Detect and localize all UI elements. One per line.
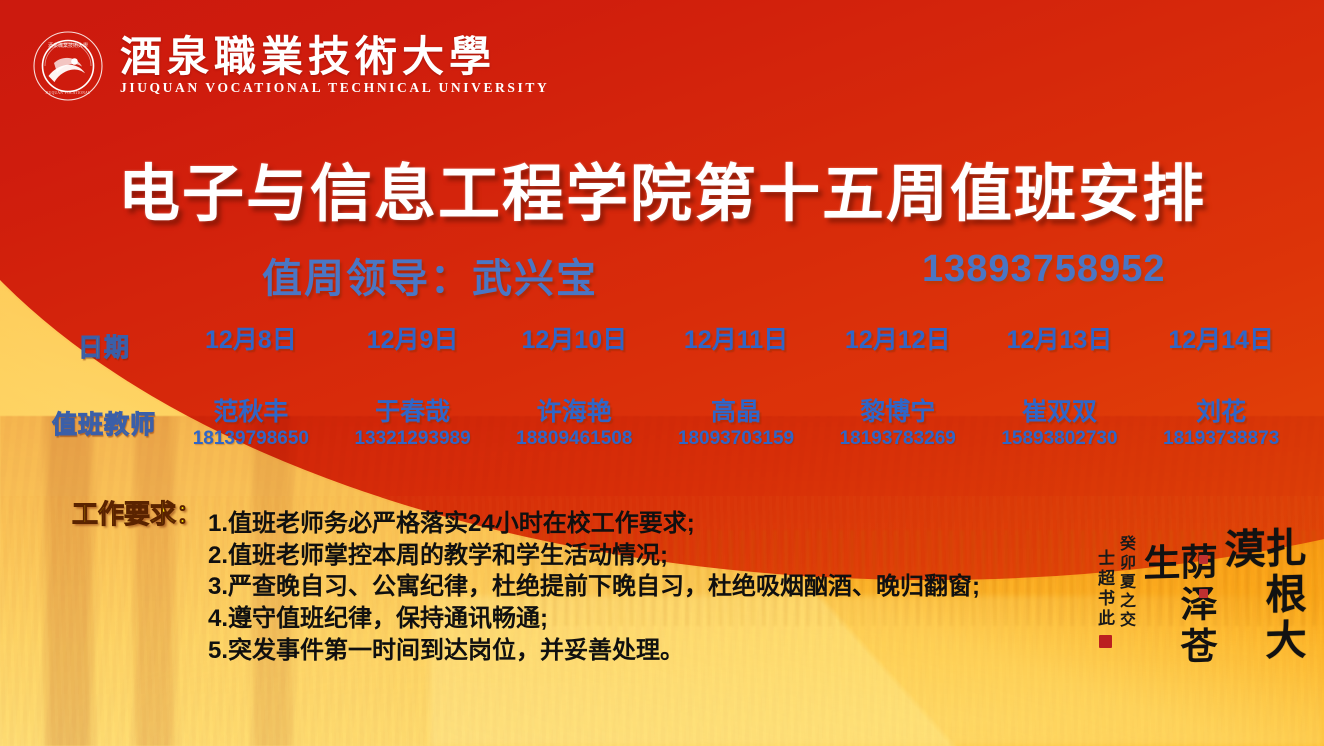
university-seal-icon: 酒泉職業技術大學 JIUQUAN VOCATIONAL (32, 30, 104, 102)
table-cell-date: 12月9日 (332, 320, 494, 356)
table-cell-phone: 18139798650 (170, 428, 332, 450)
teacher-phone: 18193783269 (840, 428, 956, 449)
table-cell-teacher: 崔双双 (979, 392, 1141, 428)
logo-chinese-name: 酒泉職業技術大學 (120, 36, 549, 78)
teacher-phone: 18809461508 (516, 428, 632, 449)
teacher-name: 高晶 (711, 398, 761, 426)
row-label-date: 日期 (78, 328, 130, 364)
calligraphy-signature-second: 士超书此 (1095, 527, 1112, 629)
schedule-teacher-row: 范秋丰 于春哉 许海艳 高晶 黎博宁 崔双双 刘花 (170, 392, 1302, 428)
date-value: 12月13日 (1007, 326, 1113, 354)
page-title: 电子与信息工程学院第十五周值班安排 (118, 143, 1206, 233)
teacher-name: 范秋丰 (213, 398, 288, 426)
table-cell-teacher: 于春哉 (332, 392, 494, 428)
teacher-phone: 13321293989 (354, 428, 470, 449)
schedule-phone-row: 18139798650 13321293989 18809461508 1809… (170, 428, 1302, 450)
requirements-list: 1.值班老师务必严格落实24小时在校工作要求; 2.值班老师掌控本周的教学和学生… (208, 508, 980, 666)
date-value: 12月14日 (1168, 326, 1274, 354)
list-item: 1.值班老师务必严格落实24小时在校工作要求; (208, 508, 980, 540)
list-item: 2.值班老师掌控本周的教学和学生活动情况; (208, 540, 980, 572)
table-cell-phone: 15893802730 (979, 428, 1141, 450)
svg-text:JIUQUAN VOCATIONAL: JIUQUAN VOCATIONAL (46, 91, 91, 95)
table-cell-date: 12月13日 (979, 320, 1141, 356)
table-cell-phone: 18809461508 (493, 428, 655, 450)
calligraphy-line-two: 荫泽苍生 (1140, 526, 1214, 703)
week-leader-phone: 13893758952 (922, 248, 1165, 291)
calligraphy-signature-first: 癸卯夏之交 (1118, 527, 1134, 630)
logo-english-name: JIUQUAN VOCATIONAL TECHNICAL UNIVERSITY (120, 80, 549, 96)
table-cell-date: 12月11日 (655, 320, 817, 356)
teacher-phone: 18139798650 (193, 428, 309, 449)
red-seal-small-icon (1199, 589, 1208, 598)
teacher-name: 崔双双 (1022, 398, 1097, 426)
table-cell-teacher: 许海艳 (493, 392, 655, 428)
teacher-phone: 18193738873 (1163, 428, 1279, 449)
date-value: 12月12日 (845, 326, 951, 354)
red-seal-icon (1099, 635, 1112, 648)
list-item: 4.遵守值班纪律，保持通讯畅通; (208, 603, 980, 635)
table-cell-phone: 18193783269 (817, 428, 979, 450)
university-logo: 酒泉職業技術大學 JIUQUAN VOCATIONAL 酒泉職業技術大學 JIU… (32, 30, 549, 102)
calligraphy-block: 士超书此 癸卯夏之交 荫泽苍生 扎根大漠 (1095, 527, 1302, 702)
table-cell-date: 12月8日 (170, 320, 332, 356)
teacher-name: 许海艳 (537, 398, 612, 426)
teacher-name: 黎博宁 (860, 398, 935, 426)
table-cell-date: 12月10日 (493, 320, 655, 356)
date-value: 12月10日 (521, 326, 627, 354)
svg-text:酒泉職業技術大學: 酒泉職業技術大學 (48, 42, 88, 49)
teacher-phone: 18093703159 (678, 428, 794, 449)
table-cell-phone: 18093703159 (655, 428, 817, 450)
table-cell-date: 12月12日 (817, 320, 979, 356)
teacher-name: 刘花 (1196, 398, 1246, 426)
week-leader-label: 值周领导：武兴宝 (262, 246, 598, 304)
table-cell-teacher: 范秋丰 (170, 392, 332, 428)
table-cell-teacher: 刘花 (1140, 392, 1302, 428)
list-item: 3.严查晚自习、公寓纪律，杜绝提前下晚自习，杜绝吸烟酗酒、晚归翻窗; (208, 571, 980, 603)
row-label-teacher: 值班教师 (52, 405, 156, 441)
table-cell-teacher: 高晶 (655, 392, 817, 428)
list-item: 5.突发事件第一时间到达岗位，并妥善处理。 (208, 635, 980, 667)
table-cell-phone: 18193738873 (1140, 428, 1302, 450)
duty-schedule-poster: 酒泉職業技術大學 JIUQUAN VOCATIONAL 酒泉職業技術大學 JIU… (0, 0, 1324, 746)
schedule-date-row: 12月8日 12月9日 12月10日 12月11日 12月12日 12月13日 … (170, 320, 1302, 356)
table-cell-teacher: 黎博宁 (817, 392, 979, 428)
date-value: 12月11日 (684, 326, 788, 354)
calligraphy-line-one: 扎根大漠 (1220, 526, 1302, 703)
table-cell-phone: 13321293989 (332, 428, 494, 450)
requirements-title: 工作要求： (72, 494, 202, 531)
teacher-phone: 15893802730 (1001, 428, 1117, 449)
teacher-name: 于春哉 (375, 398, 450, 426)
date-value: 12月8日 (205, 326, 297, 354)
date-value: 12月9日 (367, 326, 459, 354)
table-cell-date: 12月14日 (1140, 320, 1302, 356)
red-seal-small-icon (1199, 555, 1208, 564)
